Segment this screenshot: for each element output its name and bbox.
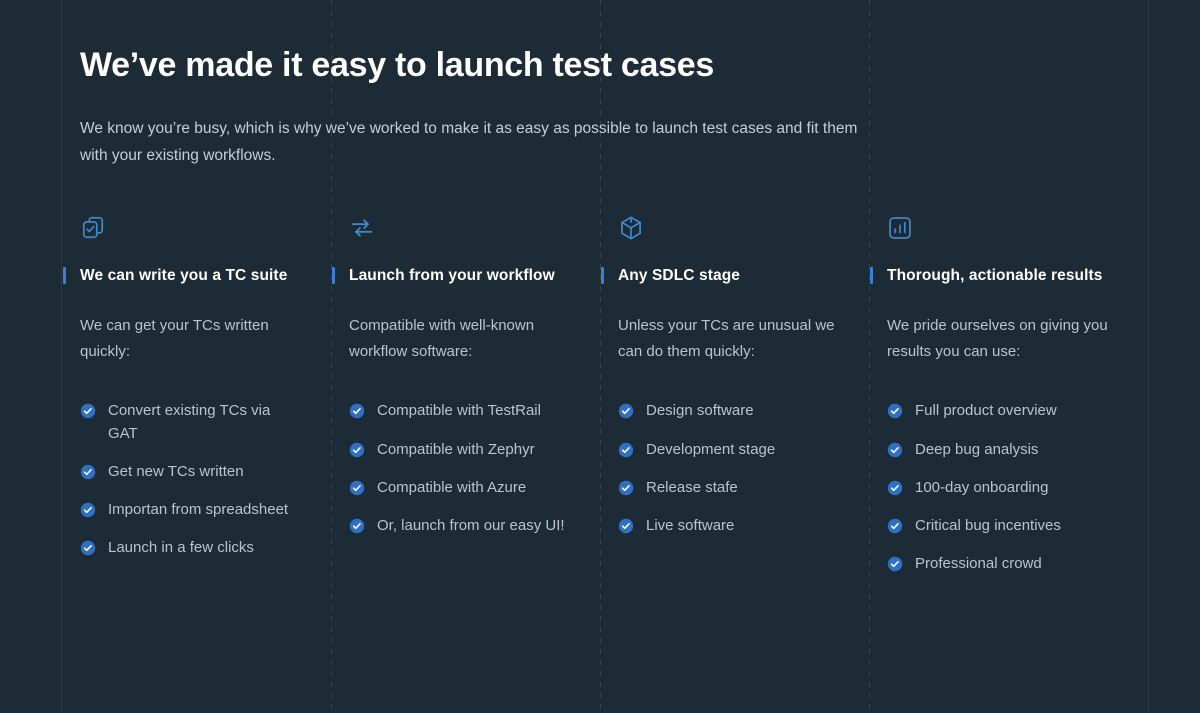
feature-heading-row-2: Launch from your workflow [332, 265, 592, 287]
list-item-label: Compatible with TestRail [377, 400, 573, 422]
accent-bar [870, 267, 873, 284]
feature-list-2: Compatible with TestRail Compatible with… [349, 400, 592, 537]
feature-description: We pride ourselves on giving you results… [887, 313, 1119, 365]
list-item-label: Release stafe [646, 477, 842, 499]
list-item-label: Professional crowd [915, 553, 1111, 575]
list-item: Get new TCs written [80, 461, 323, 483]
feature-heading-row-3: Any SDLC stage [601, 265, 861, 287]
accent-bar [601, 267, 604, 284]
check-circle-icon [887, 403, 903, 419]
check-circle-icon [349, 480, 365, 496]
feature-heading: We can write you a TC suite [80, 267, 287, 285]
feature-column-1: We can write you a TC suite We can get y… [80, 215, 349, 592]
feature-heading: Any SDLC stage [618, 267, 740, 285]
check-circle-icon [349, 403, 365, 419]
bar-chart-square-icon [887, 215, 913, 241]
accent-bar [332, 267, 335, 284]
list-item: Compatible with Zephyr [349, 439, 592, 461]
list-item: Release stafe [618, 477, 861, 499]
list-item: Development stage [618, 439, 861, 461]
feature-column-4: Thorough, actionable results We pride ou… [887, 215, 1156, 592]
list-item: Compatible with Azure [349, 477, 592, 499]
list-item: Importan from spreadsheet [80, 499, 323, 521]
list-item: Professional crowd [887, 553, 1130, 575]
check-circle-icon [887, 480, 903, 496]
feature-heading: Thorough, actionable results [887, 267, 1103, 285]
cube-box-icon [618, 215, 644, 241]
list-item: Deep bug analysis [887, 439, 1130, 461]
feature-list-1: Convert existing TCs via GAT Get new TCs… [80, 400, 323, 559]
feature-columns: We can write you a TC suite We can get y… [80, 215, 1160, 592]
check-circle-icon [618, 403, 634, 419]
list-item: Convert existing TCs via GAT [80, 400, 323, 444]
page-title: We’ve made it easy to launch test cases [80, 44, 1200, 87]
check-circle-icon [618, 480, 634, 496]
list-item-label: Or, launch from our easy UI! [377, 515, 573, 537]
list-item-label: Live software [646, 515, 842, 537]
feature-description: We can get your TCs written quickly: [80, 313, 312, 365]
check-circle-icon [80, 502, 96, 518]
feature-description: Compatible with well-known workflow soft… [349, 313, 581, 365]
list-item: Compatible with TestRail [349, 400, 592, 422]
list-item-label: Deep bug analysis [915, 439, 1111, 461]
list-item-label: Critical bug incentives [915, 515, 1111, 537]
check-circle-icon [80, 464, 96, 480]
feature-column-3: Any SDLC stage Unless your TCs are unusu… [618, 215, 887, 592]
feature-heading: Launch from your workflow [349, 267, 555, 285]
list-item-label: Compatible with Azure [377, 477, 573, 499]
check-circle-icon [618, 518, 634, 534]
check-circle-icon [80, 540, 96, 556]
check-circle-icon [887, 556, 903, 572]
list-item: Live software [618, 515, 861, 537]
check-circle-icon [887, 518, 903, 534]
feature-list-4: Full product overview Deep bug analysis … [887, 400, 1130, 575]
list-item-label: Launch in a few clicks [108, 537, 304, 559]
feature-heading-row-1: We can write you a TC suite [63, 265, 323, 287]
exchange-arrows-icon [349, 215, 375, 241]
check-circle-icon [349, 442, 365, 458]
check-circle-icon [80, 403, 96, 419]
list-item: Full product overview [887, 400, 1130, 422]
list-item-label: Convert existing TCs via GAT [108, 400, 304, 444]
list-item: Or, launch from our easy UI! [349, 515, 592, 537]
list-item-label: Get new TCs written [108, 461, 304, 483]
list-item-label: Design software [646, 400, 842, 422]
list-item: Launch in a few clicks [80, 537, 323, 559]
list-item-label: Development stage [646, 439, 842, 461]
accent-bar [63, 267, 66, 284]
feature-column-2: Launch from your workflow Compatible wit… [349, 215, 618, 592]
check-circle-icon [887, 442, 903, 458]
list-item-label: 100-day onboarding [915, 477, 1111, 499]
feature-list-3: Design software Development stage Releas… [618, 400, 861, 537]
clipboard-check-copy-icon [80, 215, 106, 241]
check-circle-icon [618, 442, 634, 458]
feature-heading-row-4: Thorough, actionable results [870, 265, 1130, 287]
list-item-label: Compatible with Zephyr [377, 439, 573, 461]
features-section: We’ve made it easy to launch test cases … [0, 0, 1200, 591]
list-item: Critical bug incentives [887, 515, 1130, 537]
list-item-label: Full product overview [915, 400, 1111, 422]
list-item: 100-day onboarding [887, 477, 1130, 499]
list-item: Design software [618, 400, 861, 422]
feature-description: Unless your TCs are unusual we can do th… [618, 313, 850, 365]
page-subtitle: We know you’re busy, which is why we’ve … [80, 115, 870, 169]
list-item-label: Importan from spreadsheet [108, 499, 304, 521]
check-circle-icon [349, 518, 365, 534]
